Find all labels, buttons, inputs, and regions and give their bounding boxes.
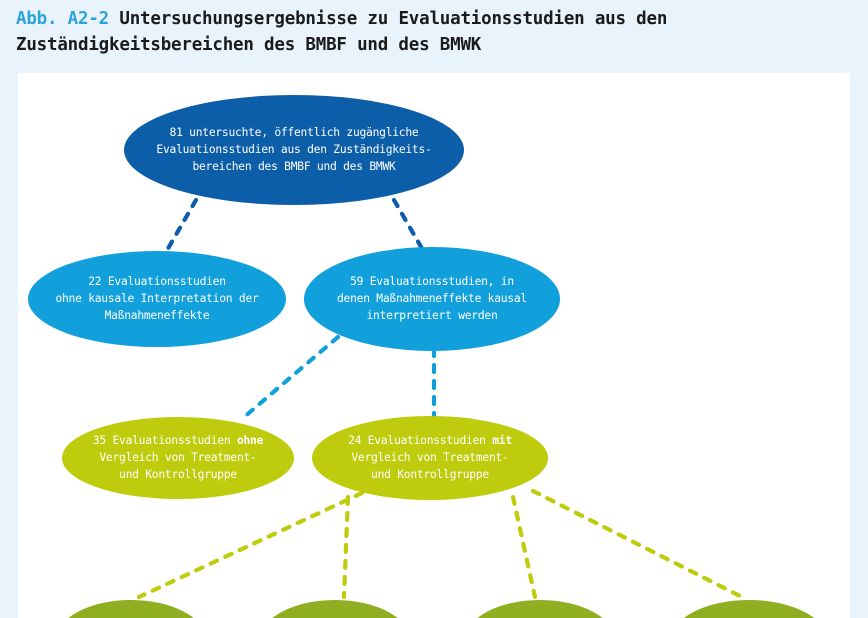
page-title: Abb. A2-2 Untersuchungsergebnisse zu Eva… bbox=[16, 6, 816, 58]
figure-header: Abb. A2-2 Untersuchungsergebnisse zu Eva… bbox=[0, 0, 868, 73]
diagram-panel bbox=[18, 73, 850, 618]
figure-root: Abb. A2-2 Untersuchungsergebnisse zu Eva… bbox=[0, 0, 868, 618]
figure-title-text: Untersuchungsergebnisse zu Evaluationsst… bbox=[16, 9, 678, 55]
figure-number-label: Abb. A2-2 bbox=[16, 9, 109, 29]
